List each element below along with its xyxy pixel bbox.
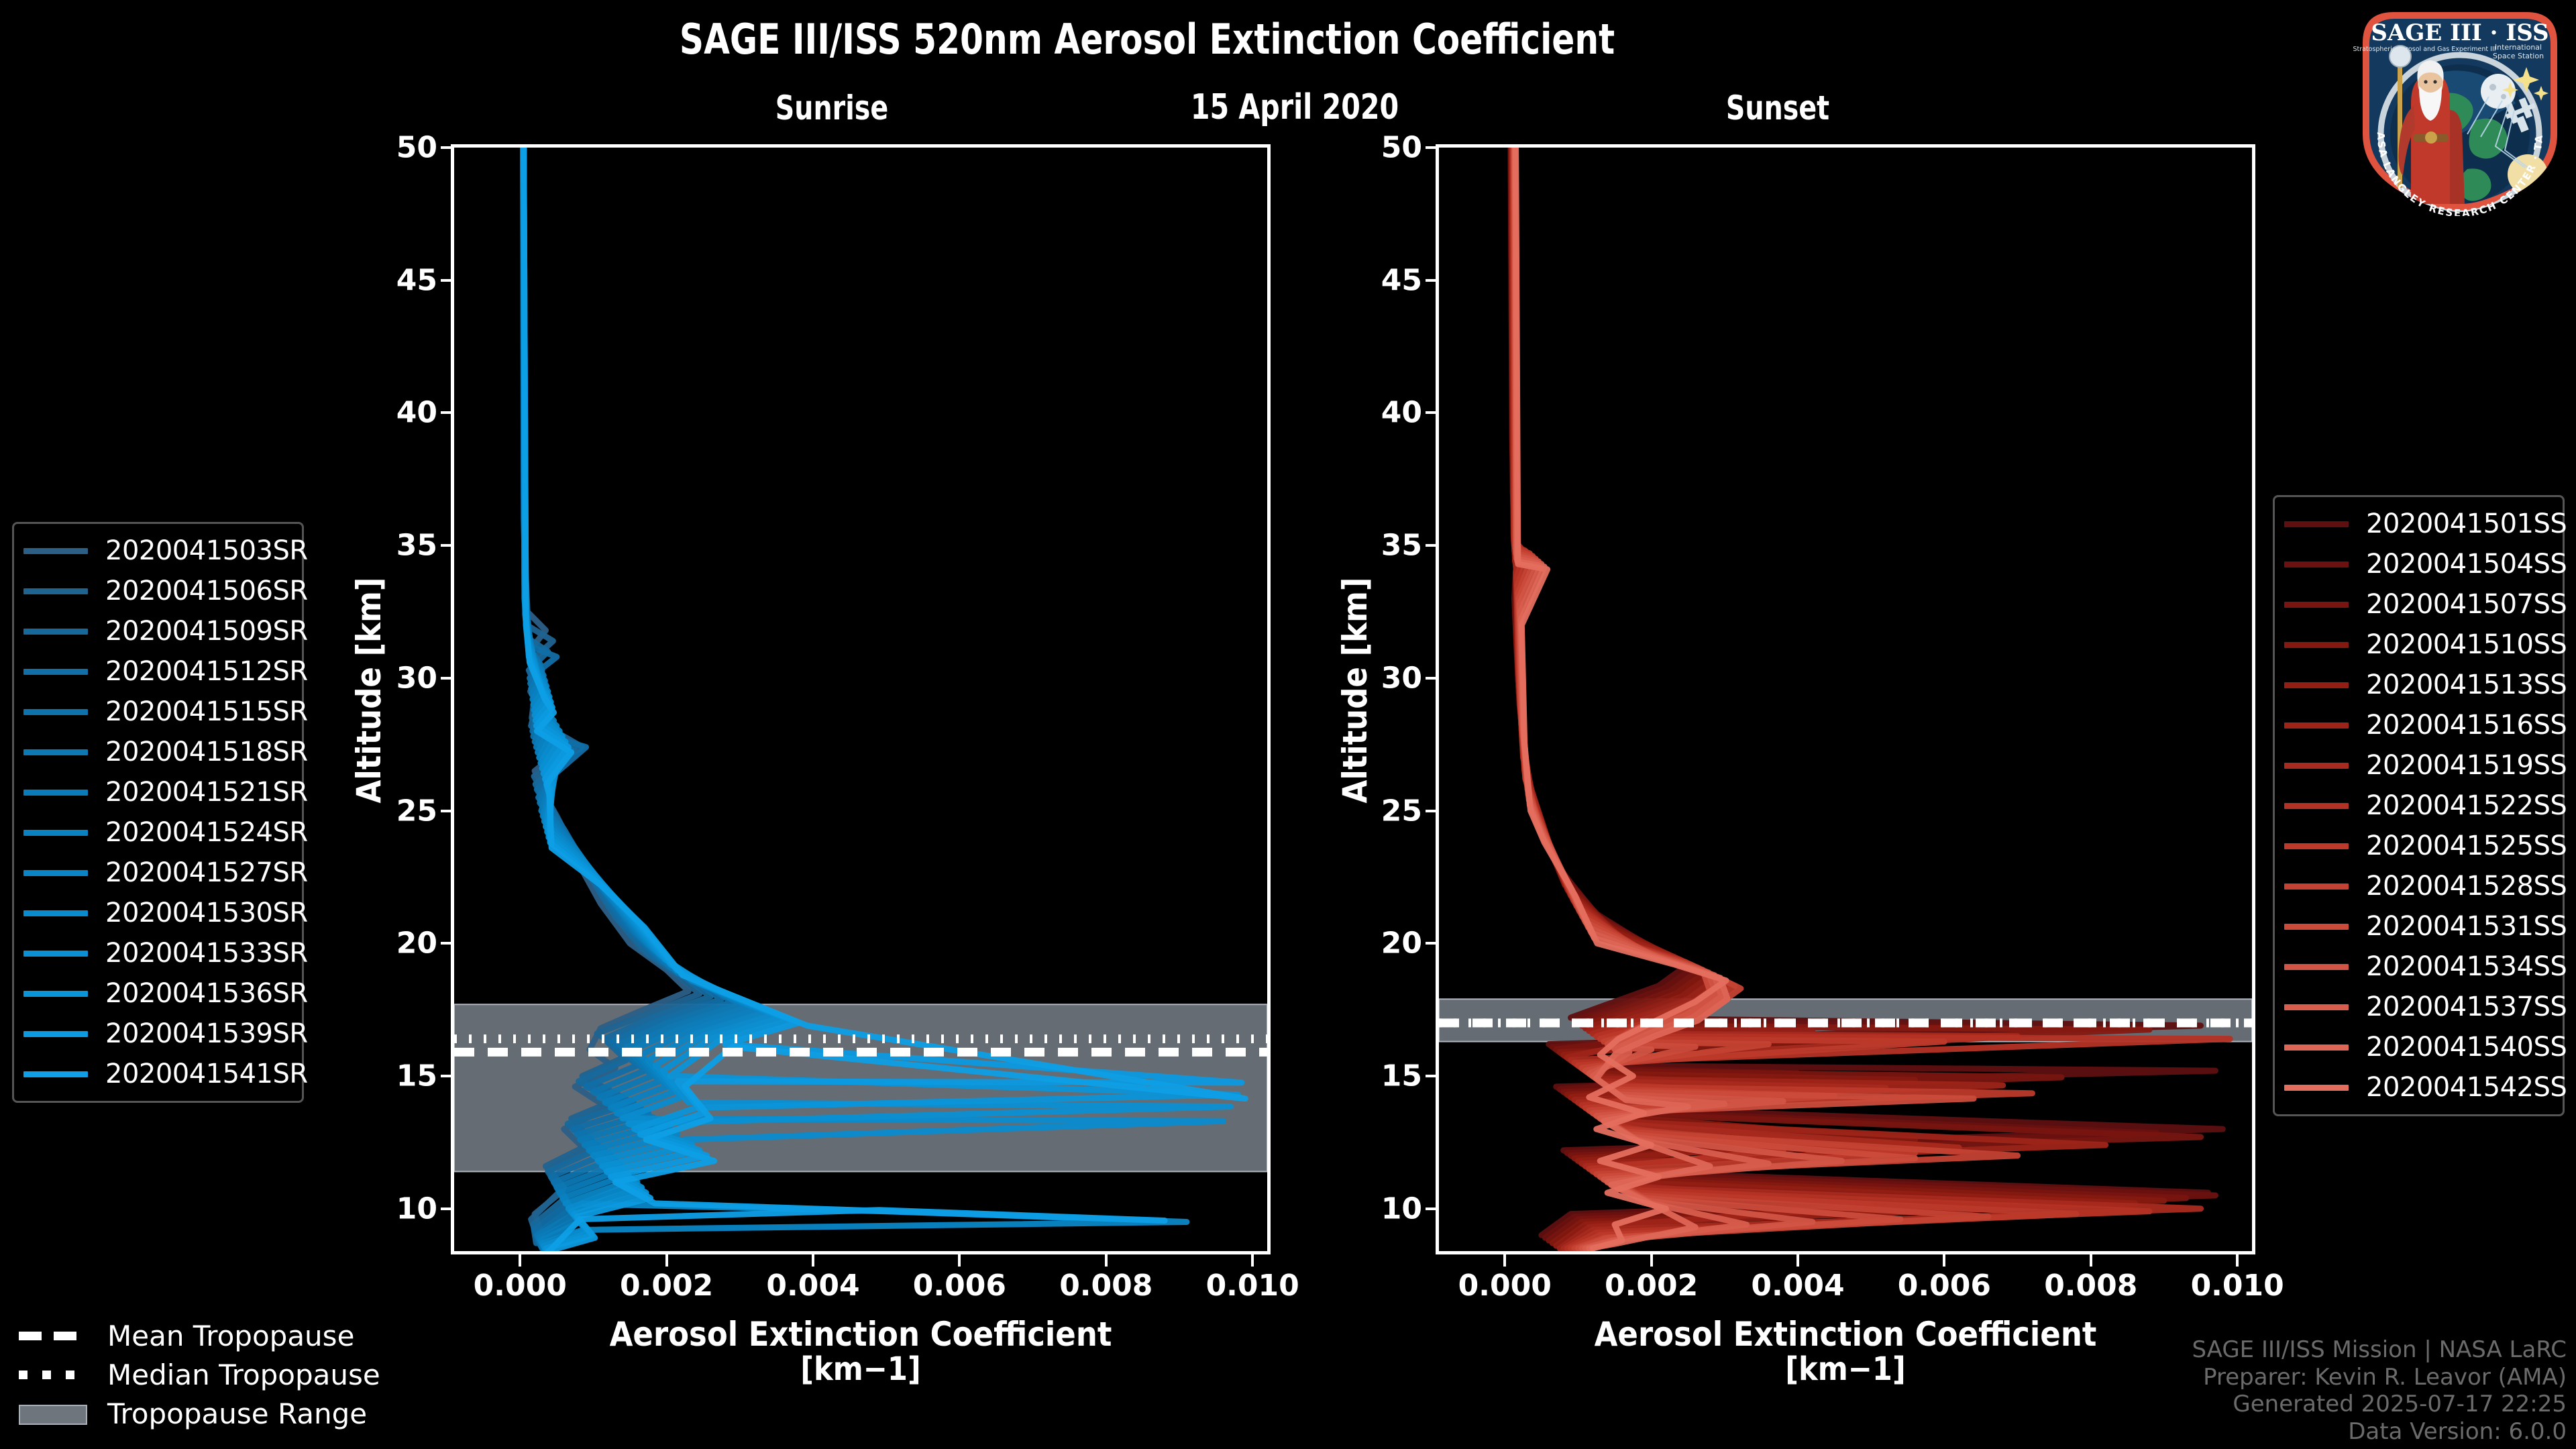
sunrise-x-axis-unit: [km−1] xyxy=(451,1352,1271,1387)
sunrise-x-tick-label: 0.000 xyxy=(439,1269,600,1303)
legend-item[interactable]: 2020041513SS xyxy=(2284,665,2553,705)
sunset-y-tick-label: 45 xyxy=(1322,263,1422,297)
legend-color-swatch xyxy=(23,790,88,796)
sunrise-x-tick-mark xyxy=(519,1254,521,1267)
sunrise-x-tick-mark xyxy=(1105,1254,1108,1267)
legend-item[interactable]: 2020041539SR xyxy=(23,1014,292,1054)
sunrise-x-tick-label: 0.010 xyxy=(1172,1269,1333,1303)
sunset-x-tick-label: 0.000 xyxy=(1424,1269,1585,1303)
sunrise-plot-panel xyxy=(451,144,1271,1254)
legend-color-swatch xyxy=(2284,1085,2349,1091)
sunrise-y-tick-label: 40 xyxy=(337,396,437,430)
legend-item[interactable]: 2020041528SS xyxy=(2284,866,2553,906)
legend-item[interactable]: 2020041515SR xyxy=(23,692,292,732)
legend-item[interactable]: 2020041521SR xyxy=(23,772,292,812)
sunrise-x-tick-label: 0.008 xyxy=(1026,1269,1187,1303)
legend-item[interactable]: 2020041534SS xyxy=(2284,947,2553,987)
legend-label: 2020041512SR xyxy=(105,656,308,687)
sunset-x-axis-title: Aerosol Extinction Coefficient xyxy=(1595,1315,2097,1354)
legend-color-swatch xyxy=(23,991,88,997)
legend-color-swatch xyxy=(2284,521,2349,527)
sunset-x-tick-label: 0.004 xyxy=(1717,1269,1878,1303)
legend-label-median-tropopause: Median Tropopause xyxy=(107,1358,380,1391)
sunset-x-tick-mark xyxy=(2090,1254,2092,1267)
sunrise-y-axis-label: Altitude [km] xyxy=(350,576,388,804)
legend-color-swatch xyxy=(2284,642,2349,648)
legend-item[interactable]: 2020041542SS xyxy=(2284,1067,2553,1108)
legend-item[interactable]: 2020041503SR xyxy=(23,531,292,571)
legend-item[interactable]: 2020041504SS xyxy=(2284,544,2553,584)
legend-color-swatch xyxy=(23,830,88,836)
sunset-y-tick-label: 10 xyxy=(1322,1191,1422,1226)
legend-color-swatch xyxy=(2284,1044,2349,1051)
credit-line-data-version: Data Version: 6.0.0 xyxy=(2192,1418,2567,1445)
legend-item[interactable]: 2020041509SR xyxy=(23,611,292,651)
date-title: 15 April 2020 xyxy=(1088,87,1501,127)
legend-item[interactable]: 2020041525SS xyxy=(2284,826,2553,866)
legend-label: 2020041533SR xyxy=(105,938,308,969)
legend-color-swatch xyxy=(2284,763,2349,769)
sunset-y-tick-label: 35 xyxy=(1322,529,1422,563)
legend-label: 2020041501SS xyxy=(2366,508,2567,539)
legend-item[interactable]: 2020041530SR xyxy=(23,893,292,933)
legend-label: 2020041518SR xyxy=(105,737,308,767)
sunset-x-tick-mark xyxy=(2236,1254,2239,1267)
sunset-x-tick-mark xyxy=(1503,1254,1506,1267)
legend-color-swatch xyxy=(2284,964,2349,970)
legend-item[interactable]: 2020041518SR xyxy=(23,732,292,772)
sunset-x-tick-mark xyxy=(1650,1254,1653,1267)
legend-item[interactable]: 2020041519SS xyxy=(2284,745,2553,786)
legend-color-swatch xyxy=(2284,682,2349,688)
legend-color-swatch xyxy=(23,1031,88,1037)
legend-color-swatch xyxy=(2284,843,2349,849)
legend-label: 2020041540SS xyxy=(2366,1032,2567,1063)
sunrise-x-tick-label: 0.006 xyxy=(879,1269,1040,1303)
credits-block: SAGE III/ISS Mission | NASA LaRC Prepare… xyxy=(2192,1336,2567,1445)
legend-color-swatch xyxy=(23,870,88,876)
sunrise-plot-canvas xyxy=(454,148,1267,1251)
legend-label: 2020041510SS xyxy=(2366,629,2567,660)
legend-label: 2020041516SS xyxy=(2366,710,2567,741)
sunset-y-axis-label: Altitude [km] xyxy=(1336,576,1375,804)
legend-item[interactable]: 2020041541SR xyxy=(23,1054,292,1094)
sunset-x-tick-label: 0.006 xyxy=(1864,1269,2025,1303)
legend-label: 2020041513SS xyxy=(2366,669,2567,700)
legend-label: 2020041519SS xyxy=(2366,750,2567,781)
legend-item[interactable]: 2020041512SR xyxy=(23,651,292,692)
sunrise-y-tick-label: 10 xyxy=(337,1191,437,1226)
logo-title: SAGE III · ISS xyxy=(2371,19,2548,46)
legend-item[interactable]: 2020041524SR xyxy=(23,812,292,853)
sunrise-x-tick-mark xyxy=(812,1254,814,1267)
page-title: SAGE III/ISS 520nm Aerosol Extinction Co… xyxy=(115,15,2180,64)
legend-color-swatch xyxy=(2284,561,2349,568)
legend-label: 2020041525SS xyxy=(2366,830,2567,861)
logo-subtitle-left: Stratospheric Aerosol and Gas Experiment… xyxy=(2353,46,2495,53)
sunrise-panel-title: Sunrise xyxy=(625,89,1038,127)
sunrise-y-tick-label: 20 xyxy=(337,926,437,961)
legend-label: 2020041507SS xyxy=(2366,589,2567,620)
legend-item[interactable]: 2020041506SR xyxy=(23,571,292,611)
sunrise-y-tick-label: 50 xyxy=(337,131,437,165)
sunrise-legend[interactable]: 2020041503SR2020041506SR2020041509SR2020… xyxy=(12,522,304,1103)
sunset-x-tick-label: 0.008 xyxy=(2010,1269,2171,1303)
sunrise-y-tick-label: 15 xyxy=(337,1059,437,1093)
legend-label: 2020041522SS xyxy=(2366,790,2567,821)
legend-color-swatch xyxy=(23,588,88,594)
legend-label: 2020041515SR xyxy=(105,696,308,727)
legend-label: 2020041503SR xyxy=(105,535,308,566)
legend-label: 2020041521SR xyxy=(105,777,308,808)
sunset-plot-panel xyxy=(1436,144,2255,1254)
legend-label: 2020041524SR xyxy=(105,817,308,848)
sunrise-x-tick-mark xyxy=(1251,1254,1254,1267)
sunset-x-axis-label: Aerosol Extinction Coefficient [km−1] xyxy=(1436,1316,2255,1387)
sunrise-x-tick-mark xyxy=(958,1254,961,1267)
legend-color-swatch xyxy=(2284,722,2349,729)
sage-iii-iss-logo: SAGE III · ISS Stratospheric Aerosol and… xyxy=(2349,3,2571,216)
legend-item[interactable]: 2020041510SS xyxy=(2284,625,2553,665)
filled-band-icon xyxy=(19,1405,87,1422)
sunrise-x-axis-label: Aerosol Extinction Coefficient [km−1] xyxy=(451,1316,1271,1387)
sunrise-x-tick-label: 0.004 xyxy=(733,1269,894,1303)
sunset-x-tick-label: 0.002 xyxy=(1571,1269,1732,1303)
legend-item[interactable]: 2020041516SS xyxy=(2284,705,2553,745)
legend-color-swatch xyxy=(23,669,88,675)
legend-item[interactable]: 2020041536SR xyxy=(23,973,292,1014)
legend-label: 2020041509SR xyxy=(105,616,308,647)
dotted-line-icon xyxy=(19,1366,87,1383)
legend-item[interactable]: 2020041501SS xyxy=(2284,504,2553,544)
sunrise-x-tick-label: 0.002 xyxy=(586,1269,747,1303)
sunset-x-tick-mark xyxy=(1943,1254,1945,1267)
legend-label: 2020041539SR xyxy=(105,1018,308,1049)
legend-color-swatch xyxy=(23,1071,88,1077)
legend-item[interactable]: 2020041537SS xyxy=(2284,987,2553,1027)
credit-line-mission: SAGE III/ISS Mission | NASA LaRC xyxy=(2192,1336,2567,1363)
sunset-plot-canvas xyxy=(1439,148,2252,1251)
legend-color-swatch xyxy=(23,749,88,755)
legend-label: 2020041531SS xyxy=(2366,911,2567,942)
credit-line-generated: Generated 2025-07-17 22:25 xyxy=(2192,1391,2567,1417)
sunrise-y-tick-label: 35 xyxy=(337,529,437,563)
legend-color-swatch xyxy=(2284,1004,2349,1010)
sunrise-x-axis-title: Aerosol Extinction Coefficient xyxy=(610,1315,1112,1354)
legend-item[interactable]: 2020041527SR xyxy=(23,853,292,893)
legend-color-swatch xyxy=(23,951,88,957)
legend-label: 2020041527SR xyxy=(105,857,308,888)
sunrise-y-tick-label: 45 xyxy=(337,263,437,297)
legend-item[interactable]: 2020041522SS xyxy=(2284,786,2553,826)
sunset-y-tick-label: 15 xyxy=(1322,1059,1422,1093)
legend-label: 2020041541SR xyxy=(105,1059,308,1089)
sunset-y-tick-label: 40 xyxy=(1322,396,1422,430)
legend-label: 2020041506SR xyxy=(105,576,308,606)
sunset-x-tick-mark xyxy=(1796,1254,1799,1267)
legend-label: 2020041537SS xyxy=(2366,991,2567,1022)
legend-item[interactable]: 2020041533SR xyxy=(23,933,292,973)
legend-item-tropopause-range: Tropopause Range xyxy=(19,1394,394,1433)
legend-item-median-tropopause: Median Tropopause xyxy=(19,1355,394,1394)
legend-color-swatch xyxy=(2284,803,2349,809)
logo-subtitle-right-2: Space Station xyxy=(2493,52,2544,60)
legend-label: 2020041504SS xyxy=(2366,549,2567,580)
legend-color-swatch xyxy=(23,910,88,916)
dashed-line-icon xyxy=(19,1327,87,1344)
legend-item-mean-tropopause: Mean Tropopause xyxy=(19,1316,394,1355)
sunset-y-tick-label: 20 xyxy=(1322,926,1422,961)
legend-color-swatch xyxy=(2284,602,2349,608)
legend-label-mean-tropopause: Mean Tropopause xyxy=(107,1320,354,1352)
sunset-x-tick-label: 0.010 xyxy=(2157,1269,2318,1303)
credit-line-preparer: Preparer: Kevin R. Leavor (AMA) xyxy=(2192,1364,2567,1391)
legend-label: 2020041530SR xyxy=(105,898,308,928)
sunset-panel-title: Sunset xyxy=(1571,89,1984,127)
legend-label: 2020041534SS xyxy=(2366,951,2567,982)
legend-color-swatch xyxy=(2284,924,2349,930)
legend-label: 2020041536SR xyxy=(105,978,308,1009)
legend-label-tropopause-range: Tropopause Range xyxy=(107,1397,367,1430)
legend-item[interactable]: 2020041507SS xyxy=(2284,584,2553,625)
legend-label: 2020041528SS xyxy=(2366,871,2567,902)
sunset-legend[interactable]: 2020041501SS2020041504SS2020041507SS2020… xyxy=(2273,495,2565,1116)
legend-color-swatch xyxy=(23,548,88,554)
legend-color-swatch xyxy=(2284,883,2349,890)
legend-label: 2020041542SS xyxy=(2366,1072,2567,1103)
logo-subtitle-right-1: International xyxy=(2495,43,2542,52)
sunset-x-axis-unit: [km−1] xyxy=(1436,1352,2255,1387)
legend-color-swatch xyxy=(23,629,88,635)
tropopause-legend: Mean Tropopause Median Tropopause Tropop… xyxy=(19,1316,394,1433)
sunset-y-tick-label: 50 xyxy=(1322,131,1422,165)
legend-item[interactable]: 2020041531SS xyxy=(2284,906,2553,947)
legend-item[interactable]: 2020041540SS xyxy=(2284,1027,2553,1067)
sunrise-x-tick-mark xyxy=(665,1254,668,1267)
legend-color-swatch xyxy=(23,709,88,715)
